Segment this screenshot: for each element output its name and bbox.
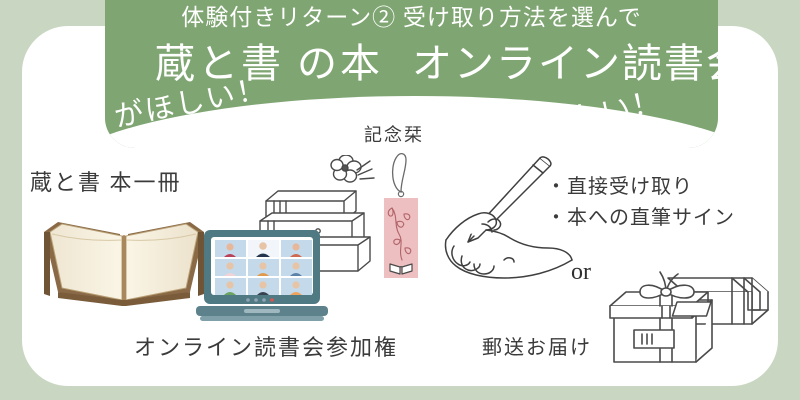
laptop-video-call-icon [196, 228, 328, 326]
banner-eyebrow-text: 体験付きリターン② 受け取り方法を選んで [105, 6, 718, 29]
caption-online-right: オンライン読書会参加権 [134, 337, 398, 359]
banner-headline-right: オンライン読書会 [412, 44, 718, 84]
or-connector-text: or [571, 259, 591, 286]
poster-canvas: 体験付きリターン② 受け取り方法を選んで 蔵と書 の本 オンライン読書会 がほし… [0, 0, 800, 400]
caption-mail-delivery: 郵送お届け [482, 338, 592, 358]
option-autograph: ・本への直筆サイン [546, 203, 735, 234]
gift-box-icon [604, 262, 772, 366]
hand-with-pen-icon [444, 152, 574, 284]
caption-bookmark: 記念栞 [364, 126, 424, 144]
bookmark-icon [378, 148, 424, 280]
banner-headline-left: 蔵と書 の本 [155, 44, 383, 84]
open-book-icon [40, 206, 208, 316]
option-direct-pickup: ・直接受け取り [546, 172, 735, 203]
caption-book: 蔵と書 本一冊 [30, 172, 182, 194]
pickup-options-list: ・直接受け取り ・本への直筆サイン [546, 172, 735, 234]
